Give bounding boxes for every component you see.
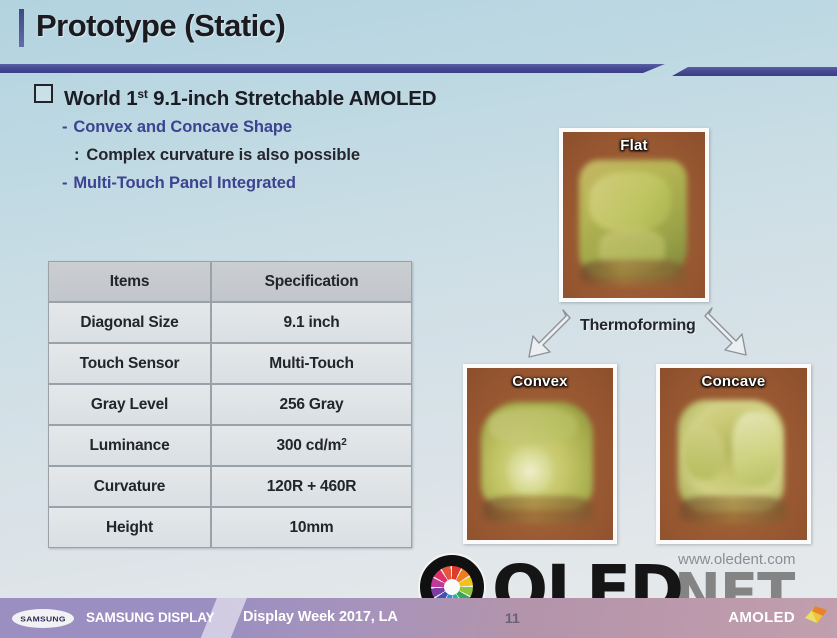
photo-concave-image: Concave [660, 368, 807, 540]
photo-convex: Convex [463, 364, 617, 544]
divider-segment-right [672, 67, 837, 76]
panel-top-detail [489, 408, 577, 444]
bullet-main: World 1st 9.1-inch Stretchable AMOLED [34, 86, 470, 111]
table-row: Luminance 300 cd/m2 [48, 425, 412, 466]
specification-table: Items Specification Diagonal Size 9.1 in… [48, 261, 412, 548]
cell-item: Curvature [48, 466, 211, 507]
slide-footer: SAMSUNG SAMSUNG DISPLAY Display Week 201… [0, 598, 837, 638]
cell-value: 9.1 inch [211, 302, 412, 343]
dash-marker: - [62, 118, 67, 136]
bullet-sub-multi-touch: -Multi-Touch Panel Integrated [62, 174, 470, 193]
bullet-main-label: World 1st 9.1-inch Stretchable AMOLED [64, 87, 436, 111]
table-header-row: Items Specification [48, 261, 412, 302]
cell-value: 256 Gray [211, 384, 412, 425]
cell-value-text: 300 cd/m [276, 437, 341, 454]
bullet-sub-label: Multi-Touch Panel Integrated [73, 174, 295, 192]
presentation-slide: Prototype (Static) World 1st 9.1-inch St… [0, 0, 837, 638]
cell-value: 10mm [211, 507, 412, 548]
cell-value: 120R + 460R [211, 466, 412, 507]
bullet-main-sup: st [137, 87, 147, 101]
page-title: Prototype (Static) [36, 8, 285, 44]
bullet-sub-label: Complex curvature is also possible [86, 146, 360, 164]
amoled-ribbon-icon [803, 604, 829, 626]
photo-flat-image: Flat [563, 132, 705, 298]
dash-marker: - [62, 174, 67, 192]
panel-base-shadow [680, 496, 786, 524]
bullet-sub-label: Convex and Concave Shape [73, 118, 292, 136]
panel-right-highlight [732, 412, 780, 486]
cell-item: Height [48, 507, 211, 548]
slide-header: Prototype (Static) [0, 0, 837, 62]
hollow-square-icon [34, 84, 53, 103]
samsung-display-label: SAMSUNG DISPLAY [86, 610, 215, 625]
divider-segment-left [0, 64, 665, 73]
cell-item: Diagonal Size [48, 302, 211, 343]
bullet-main-pre: World 1 [64, 87, 137, 110]
cell-item: Touch Sensor [48, 343, 211, 384]
cell-item: Luminance [48, 425, 211, 466]
table-row: Gray Level 256 Gray [48, 384, 412, 425]
table-row: Touch Sensor Multi-Touch [48, 343, 412, 384]
cell-value: 300 cd/m2 [211, 425, 412, 466]
bullet-sub-complex-curvature: :Complex curvature is also possible [74, 146, 470, 165]
table-row: Diagonal Size 9.1 inch [48, 302, 412, 343]
photo-concave-label: Concave [660, 373, 807, 390]
panel-base-shadow [483, 496, 593, 524]
panel-highlight [589, 172, 671, 232]
table-row: Curvature 120R + 460R [48, 466, 412, 507]
panel-convex-bulge [507, 446, 553, 496]
table-header-specification: Specification [211, 261, 412, 302]
amoled-label: AMOLED [728, 609, 795, 626]
cell-value: Multi-Touch [211, 343, 412, 384]
logo-core [444, 579, 460, 595]
photo-convex-image: Convex [467, 368, 613, 540]
event-label: Display Week 2017, LA [243, 609, 398, 625]
watermark-url: www.oledent.com [678, 551, 796, 568]
bullet-sub-convex-concave: -Convex and Concave Shape [62, 118, 470, 137]
bullet-main-post: 9.1-inch Stretchable AMOLED [148, 87, 437, 110]
header-divider [0, 62, 837, 80]
photo-concave: Concave [656, 364, 811, 544]
page-number: 11 [505, 610, 520, 626]
arrow-down-left-icon [528, 306, 574, 362]
table-row: Height 10mm [48, 507, 412, 548]
photo-convex-label: Convex [467, 373, 613, 390]
panel-base-shadow [581, 260, 685, 286]
cell-item: Gray Level [48, 384, 211, 425]
thermoforming-label: Thermoforming [580, 317, 696, 335]
samsung-logo-text: SAMSUNG [20, 614, 66, 623]
photo-flat-label: Flat [563, 137, 705, 154]
samsung-logo-icon: SAMSUNG [12, 609, 74, 628]
bullet-list: World 1st 9.1-inch Stretchable AMOLED -C… [0, 86, 470, 202]
colon-marker: : [74, 146, 79, 164]
arrow-down-right-icon [704, 304, 750, 362]
title-accent-bar [19, 9, 24, 47]
cell-value-superscript: 2 [341, 437, 346, 448]
table-header-items: Items [48, 261, 211, 302]
panel-left-detail [684, 428, 724, 480]
photo-flat: Flat [559, 128, 709, 302]
